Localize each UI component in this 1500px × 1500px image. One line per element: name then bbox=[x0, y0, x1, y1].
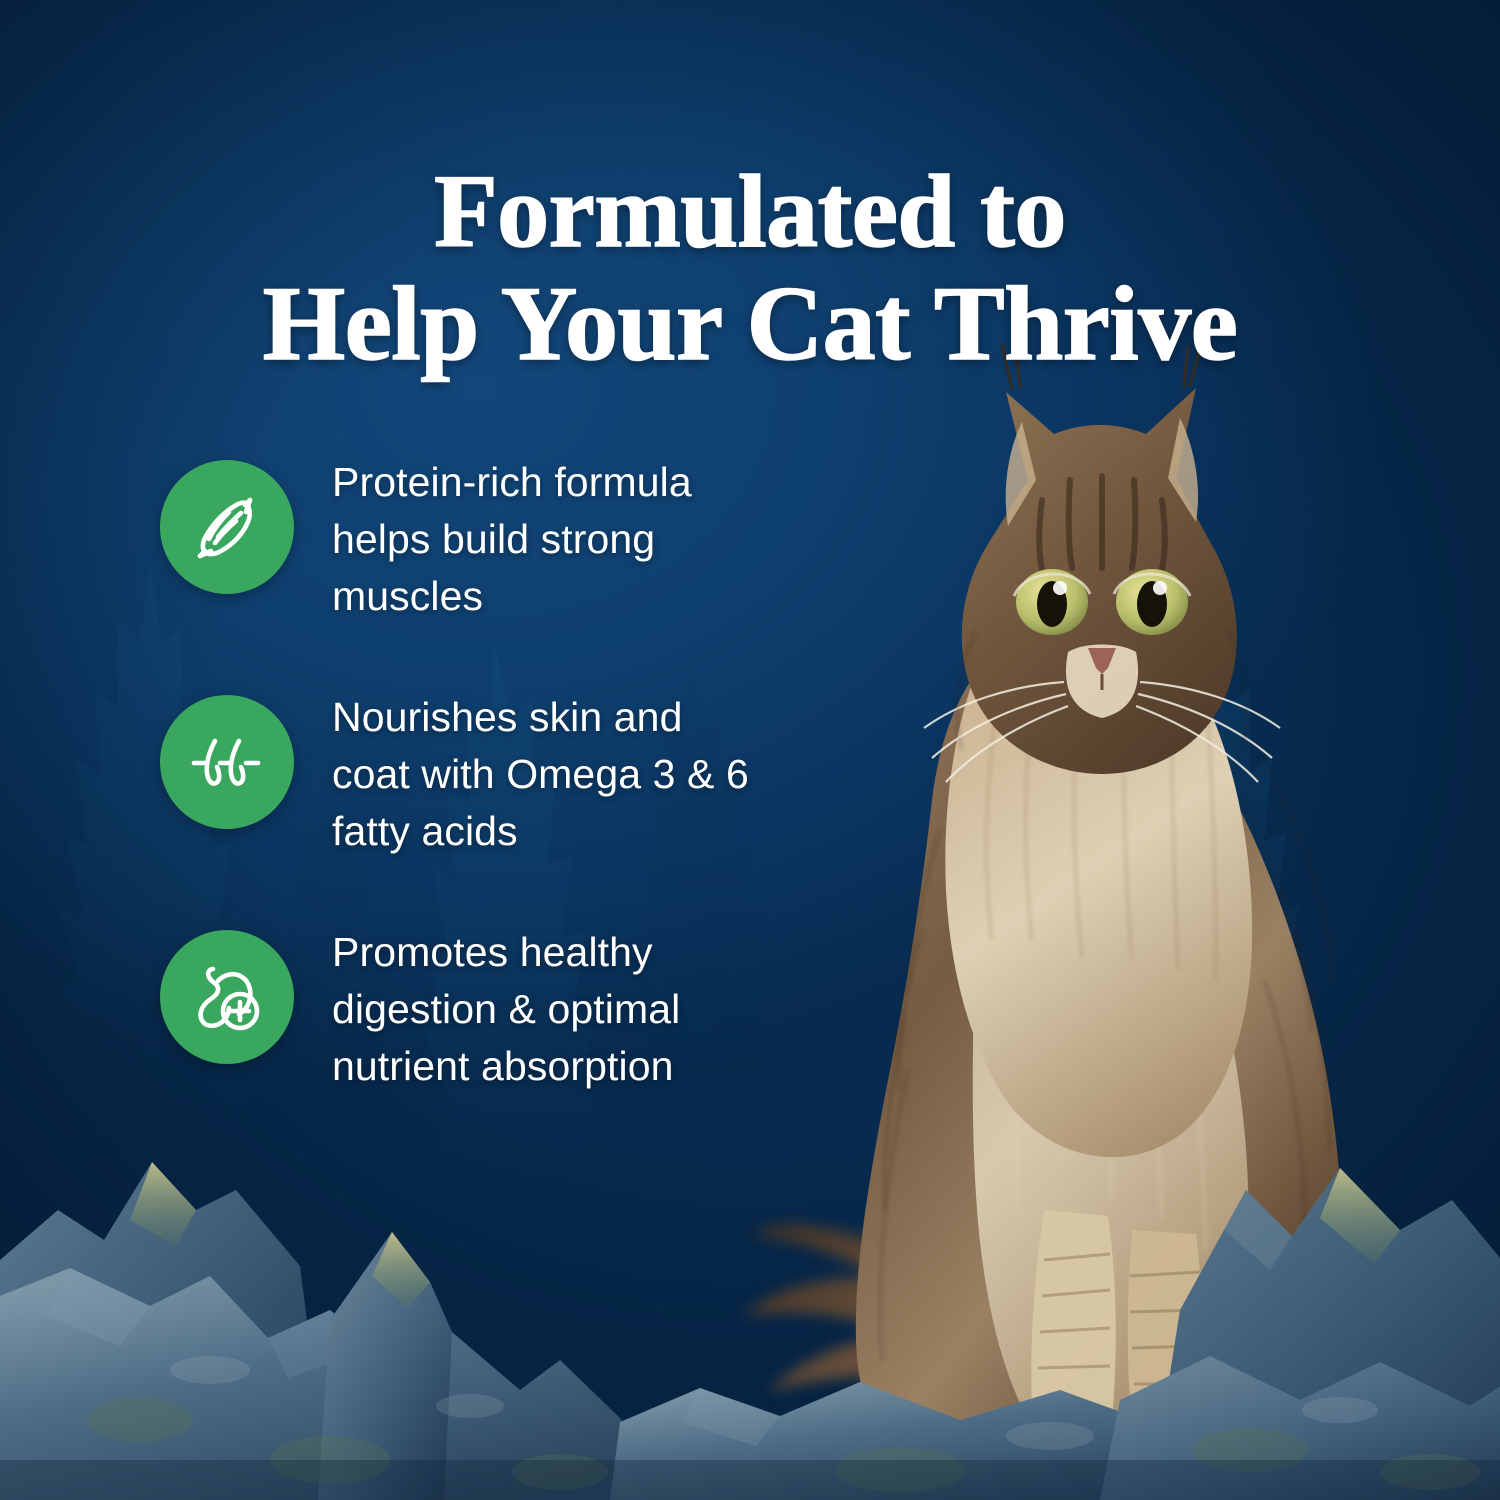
feature-list: Protein-rich formula helps build strong … bbox=[160, 452, 800, 1095]
skin-and-coat-icon bbox=[184, 719, 270, 805]
feature-line: Nourishes skin and bbox=[332, 689, 749, 746]
feature-line: coat with Omega 3 & 6 bbox=[332, 746, 749, 803]
stomach-plus-icon-badge bbox=[160, 930, 294, 1064]
headline-line-1: Formulated to bbox=[434, 154, 1066, 269]
feature-line: nutrient absorption bbox=[332, 1038, 680, 1095]
page-title: Formulated to Help Your Cat Thrive bbox=[0, 156, 1500, 381]
muscle-icon-badge bbox=[160, 460, 294, 594]
feature-line: muscles bbox=[332, 568, 692, 625]
headline-line-2: Help Your Cat Thrive bbox=[0, 267, 1500, 380]
feature-text-protein: Protein-rich formula helps build strong … bbox=[332, 452, 692, 625]
feature-line: Promotes healthy bbox=[332, 924, 680, 981]
feature-item-protein: Protein-rich formula helps build strong … bbox=[160, 452, 800, 625]
stomach-plus-icon bbox=[184, 954, 270, 1040]
feature-text-digestion: Promotes healthy digestion & optimal nut… bbox=[332, 922, 680, 1095]
feature-item-digestion: Promotes healthy digestion & optimal nut… bbox=[160, 922, 800, 1095]
promo-banner: Formulated to Help Your Cat Thrive bbox=[0, 0, 1500, 1500]
feature-line: fatty acids bbox=[332, 803, 749, 860]
feature-line: Protein-rich formula bbox=[332, 454, 692, 511]
muscle-icon bbox=[184, 484, 270, 570]
feature-line: helps build strong bbox=[332, 511, 692, 568]
skin-and-coat-icon-badge bbox=[160, 695, 294, 829]
rocky-foreground bbox=[0, 1070, 1500, 1500]
feature-item-skin-coat: Nourishes skin and coat with Omega 3 & 6… bbox=[160, 687, 800, 860]
feature-text-skin-coat: Nourishes skin and coat with Omega 3 & 6… bbox=[332, 687, 749, 860]
feature-line: digestion & optimal bbox=[332, 981, 680, 1038]
